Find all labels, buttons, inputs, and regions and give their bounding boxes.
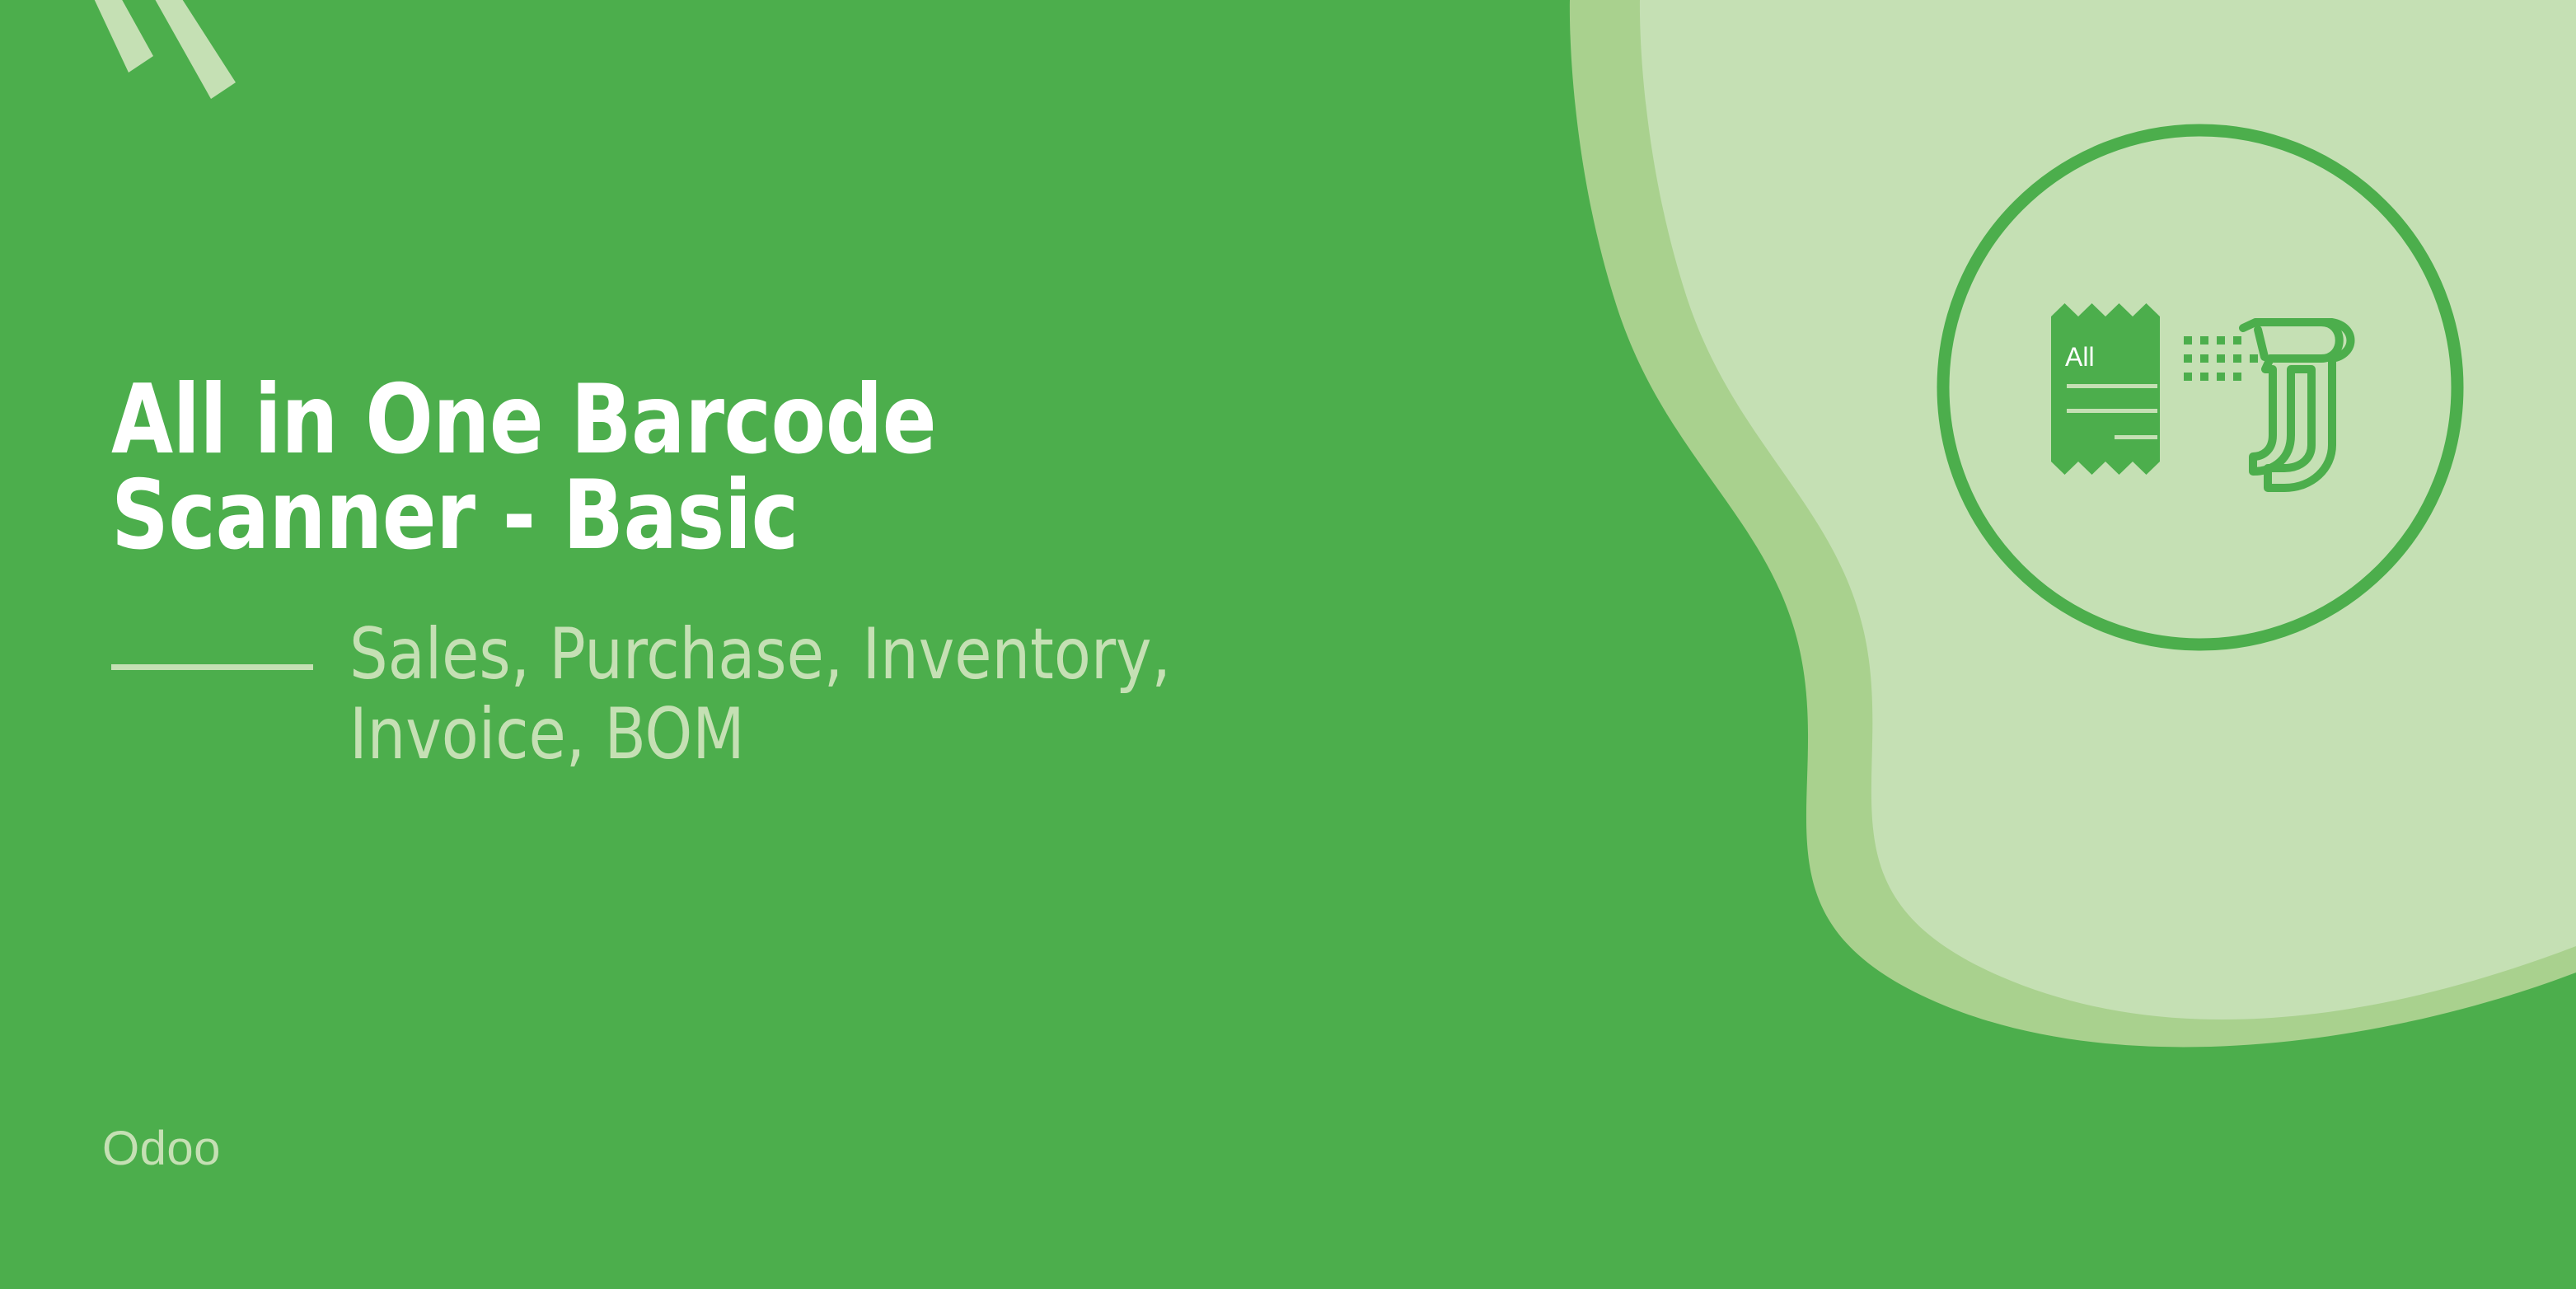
receipt-line-2 [2067, 409, 2157, 413]
brand-label: Odoo [102, 1121, 221, 1176]
badge-circle-outline [1943, 130, 2457, 644]
page-subtitle: Sales, Purchase, Inventory, Invoice, BOM [349, 615, 1171, 775]
receipt-label: All [2065, 342, 2095, 372]
subtitle-dash [111, 664, 313, 670]
receipt-line-1 [2067, 384, 2157, 388]
subtitle-row: Sales, Purchase, Inventory, Invoice, BOM [111, 615, 1726, 775]
banner-text-block: All in One Barcode Scanner - Basic Sales… [111, 373, 1726, 775]
barcode-scanner-badge: All [1935, 122, 2466, 653]
receipt-icon: All [2051, 303, 2160, 475]
barcode-scanner-gun-icon [2243, 322, 2351, 488]
page-title: All in One Barcode Scanner - Basic [111, 373, 1614, 564]
odoo-module-banner: All All [0, 0, 2576, 1289]
receipt-line-3 [2115, 435, 2157, 439]
scan-dots-icon [2184, 336, 2258, 381]
